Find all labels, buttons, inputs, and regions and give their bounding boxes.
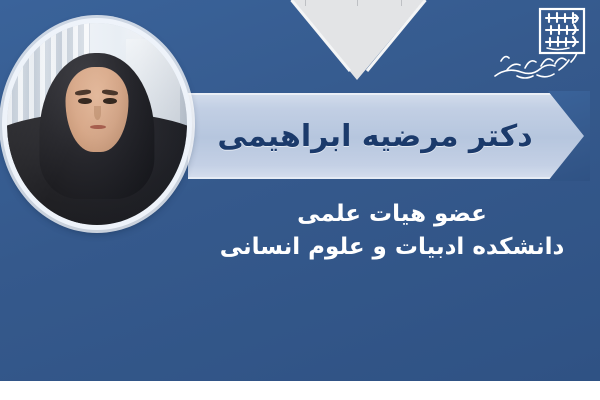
faculty-announcement-card: دکتر مرضیه ابراهیمی عضو هیات علمی دانشکد…	[0, 0, 600, 400]
university-logo	[487, 4, 591, 88]
background-seam	[357, 0, 358, 6]
portrait-lighting-overlay	[7, 23, 187, 225]
portrait-ring	[2, 18, 192, 230]
background-seam	[305, 0, 306, 6]
portrait-photo	[7, 23, 187, 225]
role-block: عضو هیات علمی دانشکده ادبیات و علوم انسا…	[196, 198, 588, 263]
faculty-name: دکتر مرضیه ابراهیمی	[200, 99, 550, 173]
background-seam	[401, 0, 402, 6]
role-title: عضو هیات علمی	[196, 198, 588, 231]
ribbon-edge-bottom	[188, 177, 556, 179]
shahid-beheshti-university-logo-icon	[487, 4, 591, 88]
faculty-department: دانشکده ادبیات و علوم انسانی	[196, 231, 588, 264]
ribbon-edge-top	[188, 93, 556, 95]
